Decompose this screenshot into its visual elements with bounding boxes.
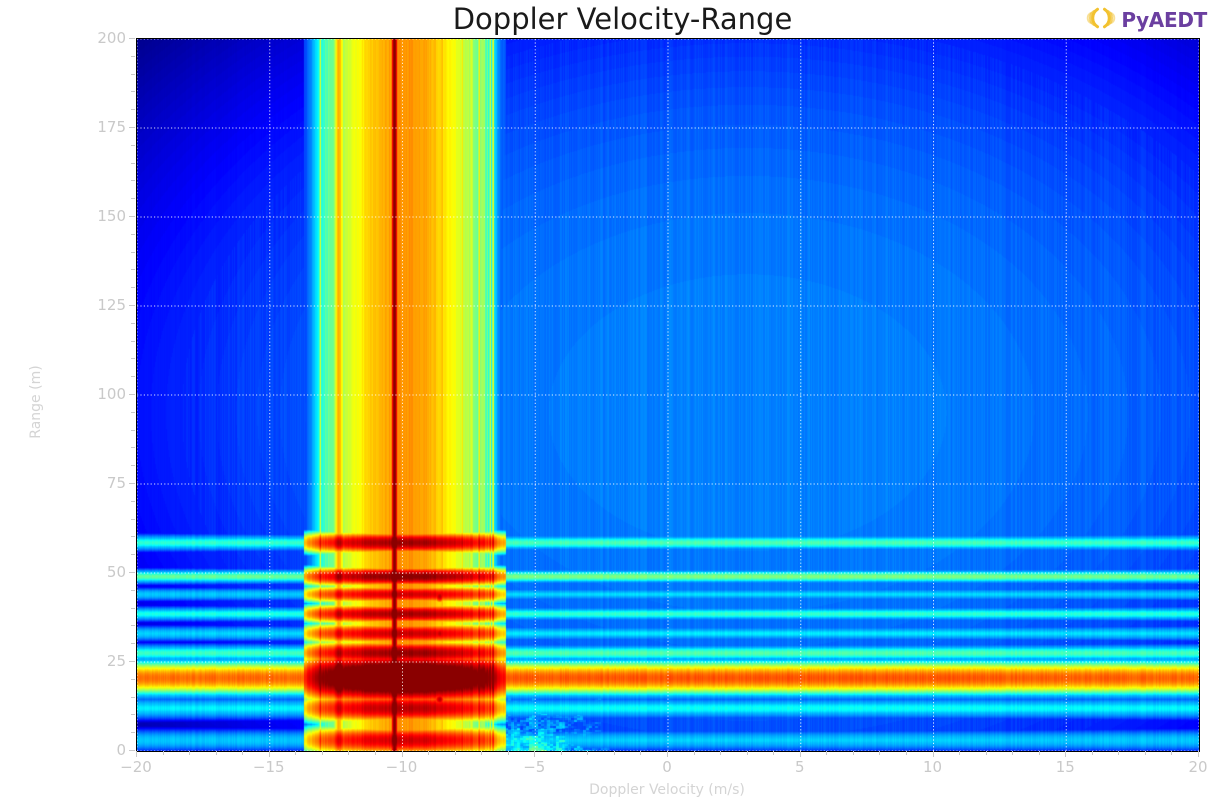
x-tick-label: 10: [903, 758, 963, 776]
y-tick-label: 125: [66, 296, 126, 314]
y-minor-tick-mark: [131, 74, 135, 75]
x-minor-tick-mark: [295, 751, 296, 755]
y-minor-tick-mark: [131, 625, 135, 626]
y-tick-mark: [129, 750, 135, 751]
x-tick-label: 5: [770, 758, 830, 776]
x-minor-tick-mark: [1039, 751, 1040, 755]
y-tick-label: 100: [66, 385, 126, 403]
y-minor-tick-mark: [131, 447, 135, 448]
y-minor-tick-mark: [131, 341, 135, 342]
y-minor-tick-mark: [131, 643, 135, 644]
x-tick-mark: [1065, 751, 1066, 757]
x-minor-tick-mark: [879, 751, 880, 755]
x-tick-mark: [269, 751, 270, 757]
x-minor-tick-mark: [694, 751, 695, 755]
x-minor-tick-mark: [640, 751, 641, 755]
y-minor-tick-mark: [131, 56, 135, 57]
x-tick-mark: [1198, 751, 1199, 757]
y-minor-tick-mark: [131, 198, 135, 199]
y-tick-label: 50: [66, 563, 126, 581]
x-minor-tick-mark: [614, 751, 615, 755]
y-minor-tick-mark: [131, 536, 135, 537]
y-tick-mark: [129, 38, 135, 39]
y-tick-mark: [129, 394, 135, 395]
x-tick-mark: [933, 751, 934, 757]
y-tick-label: 200: [66, 29, 126, 47]
x-minor-tick-mark: [720, 751, 721, 755]
y-tick-label: 150: [66, 207, 126, 225]
x-minor-tick-mark: [747, 751, 748, 755]
heatmap-plot-area[interactable]: [136, 38, 1200, 752]
x-minor-tick-mark: [428, 751, 429, 755]
y-tick-mark: [129, 216, 135, 217]
y-minor-tick-mark: [131, 91, 135, 92]
y-minor-tick-mark: [131, 501, 135, 502]
x-minor-tick-mark: [375, 751, 376, 755]
y-tick-mark: [129, 661, 135, 662]
y-minor-tick-mark: [131, 163, 135, 164]
x-minor-tick-mark: [959, 751, 960, 755]
x-minor-tick-mark: [348, 751, 349, 755]
y-minor-tick-mark: [131, 519, 135, 520]
y-minor-tick-mark: [131, 430, 135, 431]
pyaedt-logo-text: PyAEDT: [1121, 8, 1207, 32]
y-minor-tick-mark: [131, 679, 135, 680]
x-minor-tick-mark: [853, 751, 854, 755]
x-tick-mark: [534, 751, 535, 757]
y-minor-tick-mark: [131, 323, 135, 324]
x-tick-mark: [402, 751, 403, 757]
y-tick-label: 25: [66, 652, 126, 670]
x-minor-tick-mark: [826, 751, 827, 755]
y-tick-mark: [129, 483, 135, 484]
y-tick-label: 175: [66, 118, 126, 136]
x-tick-mark: [667, 751, 668, 757]
y-minor-tick-mark: [131, 714, 135, 715]
y-minor-tick-mark: [131, 412, 135, 413]
x-minor-tick-mark: [906, 751, 907, 755]
x-minor-tick-mark: [1118, 751, 1119, 755]
y-minor-tick-mark: [131, 732, 135, 733]
x-minor-tick-mark: [322, 751, 323, 755]
figure-canvas: Doppler Velocity-Range PyAEDT 0255075100…: [0, 0, 1215, 811]
x-tick-label: −10: [372, 758, 432, 776]
y-tick-mark: [129, 305, 135, 306]
x-minor-tick-mark: [1145, 751, 1146, 755]
y-minor-tick-mark: [131, 252, 135, 253]
x-minor-tick-mark: [508, 751, 509, 755]
y-tick-label: 75: [66, 474, 126, 492]
pyaedt-arcs-icon: [1086, 6, 1116, 34]
y-minor-tick-mark: [131, 554, 135, 555]
x-minor-tick-mark: [216, 751, 217, 755]
x-minor-tick-mark: [986, 751, 987, 755]
x-minor-tick-mark: [163, 751, 164, 755]
x-minor-tick-mark: [242, 751, 243, 755]
x-tick-label: 20: [1168, 758, 1215, 776]
x-tick-label: −5: [504, 758, 564, 776]
y-minor-tick-mark: [131, 608, 135, 609]
pyaedt-logo: PyAEDT: [1086, 6, 1207, 34]
y-minor-tick-mark: [131, 697, 135, 698]
y-tick-mark: [129, 572, 135, 573]
range-doppler-heatmap: [137, 39, 1199, 751]
x-tick-mark: [136, 751, 137, 757]
y-minor-tick-mark: [131, 180, 135, 181]
x-minor-tick-mark: [189, 751, 190, 755]
y-minor-tick-mark: [131, 287, 135, 288]
x-tick-label: −20: [106, 758, 166, 776]
x-tick-label: 15: [1035, 758, 1095, 776]
x-minor-tick-mark: [561, 751, 562, 755]
y-minor-tick-mark: [131, 358, 135, 359]
y-axis-label: Range (m): [28, 342, 44, 462]
y-minor-tick-mark: [131, 234, 135, 235]
x-minor-tick-mark: [481, 751, 482, 755]
x-minor-tick-mark: [455, 751, 456, 755]
x-minor-tick-mark: [1171, 751, 1172, 755]
x-minor-tick-mark: [587, 751, 588, 755]
x-minor-tick-mark: [1092, 751, 1093, 755]
y-tick-label: 0: [66, 741, 126, 759]
x-minor-tick-mark: [1012, 751, 1013, 755]
y-minor-tick-mark: [131, 590, 135, 591]
chart-title: Doppler Velocity-Range: [0, 2, 1215, 36]
x-minor-tick-mark: [773, 751, 774, 755]
x-axis-label: Doppler Velocity (m/s): [136, 782, 1198, 798]
y-tick-mark: [129, 127, 135, 128]
y-minor-tick-mark: [131, 465, 135, 466]
y-minor-tick-mark: [131, 109, 135, 110]
x-tick-label: −15: [239, 758, 299, 776]
x-tick-label: 0: [637, 758, 697, 776]
y-minor-tick-mark: [131, 376, 135, 377]
x-tick-mark: [800, 751, 801, 757]
y-minor-tick-mark: [131, 269, 135, 270]
y-minor-tick-mark: [131, 145, 135, 146]
